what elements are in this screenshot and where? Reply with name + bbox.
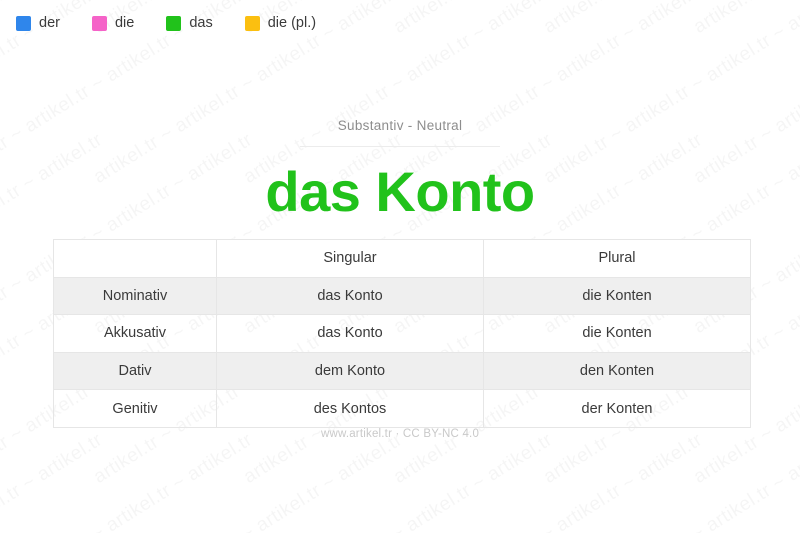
declension-table: Singular Plural Nominativ das Konto die … [53, 239, 751, 428]
cell-akkusativ-plural: die Konten [484, 315, 751, 353]
column-header-singular: Singular [217, 240, 484, 278]
case-label-dativ: Dativ [54, 352, 217, 390]
column-header-plural: Plural [484, 240, 751, 278]
legend-label: die [115, 16, 134, 31]
cell-dativ-singular: dem Konto [217, 352, 484, 390]
table-header-row: Singular Plural [54, 240, 751, 278]
cell-nominativ-plural: die Konten [484, 277, 751, 315]
legend-item-die: die [92, 16, 134, 31]
square-swatch-icon [92, 16, 107, 31]
legend-label: die (pl.) [268, 16, 316, 31]
square-swatch-icon [166, 16, 181, 31]
column-header-case [54, 240, 217, 278]
cell-akkusativ-singular: das Konto [217, 315, 484, 353]
table-row: Genitiv des Kontos der Konten [54, 390, 751, 428]
case-label-akkusativ: Akkusativ [54, 315, 217, 353]
table-row: Dativ dem Konto den Konten [54, 352, 751, 390]
legend-item-die-plural: die (pl.) [245, 16, 316, 31]
case-label-nominativ: Nominativ [54, 277, 217, 315]
case-label-genitiv: Genitiv [54, 390, 217, 428]
legend-label: das [189, 16, 212, 31]
legend-label: der [39, 16, 60, 31]
word-type-subtitle: Substantiv - Neutral [0, 118, 800, 133]
page-title: das Konto [0, 158, 800, 226]
cell-genitiv-singular: des Kontos [217, 390, 484, 428]
legend-item-der: der [16, 16, 60, 31]
table-row: Nominativ das Konto die Konten [54, 277, 751, 315]
subtitle-divider [300, 146, 500, 147]
cell-nominativ-singular: das Konto [217, 277, 484, 315]
square-swatch-icon [16, 16, 31, 31]
square-swatch-icon [245, 16, 260, 31]
page-content: der die das die (pl.) Substantiv - Neutr… [0, 0, 800, 533]
cell-dativ-plural: den Konten [484, 352, 751, 390]
table-row: Akkusativ das Konto die Konten [54, 315, 751, 353]
legend-item-das: das [166, 16, 212, 31]
article-color-legend: der die das die (pl.) [16, 16, 348, 31]
cell-genitiv-plural: der Konten [484, 390, 751, 428]
footer-attribution: www.artikel.tr · CC BY-NC 4.0 [0, 428, 800, 440]
